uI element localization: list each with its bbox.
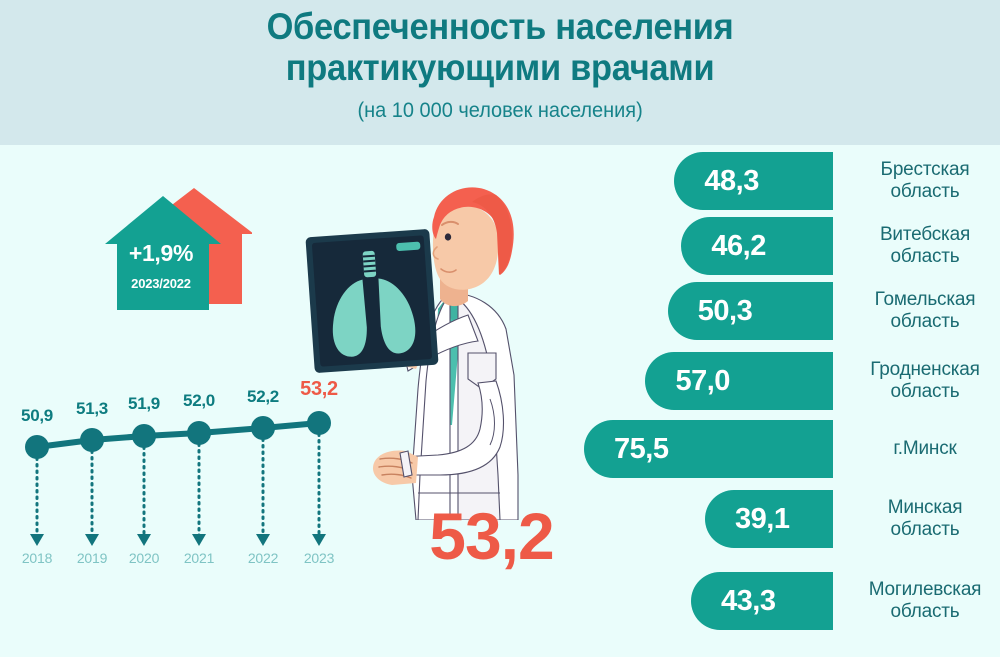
page-subtitle: (на 10 000 человек населения)	[357, 99, 642, 123]
page-title: Обеспеченность населения практикующими в…	[267, 6, 734, 88]
region-bar: 39,1	[705, 490, 833, 548]
region-value: 75,5	[614, 433, 668, 466]
timeline-year-2023: 2023	[289, 550, 349, 566]
region-label: г.Минск	[850, 420, 1000, 478]
region-label-line1: Брестская	[881, 159, 970, 180]
region-value: 50,3	[698, 295, 752, 328]
trend-line	[37, 423, 319, 447]
region-label-line1: г.Минск	[893, 438, 956, 459]
table-row: 50,3 Гомельскаяобласть	[560, 282, 1000, 344]
region-label-line2: область	[891, 181, 960, 202]
region-value: 39,1	[735, 503, 789, 536]
timeline-value-2021: 52,0	[169, 391, 229, 411]
region-label: Могилевскаяобласть	[850, 572, 1000, 630]
region-bar: 75,5	[584, 420, 833, 478]
region-value: 43,3	[721, 585, 775, 618]
page-title-line2: практикующими врачами	[286, 47, 715, 88]
leader-arrowheads	[30, 534, 326, 546]
region-bar: 48,3	[674, 152, 833, 210]
region-label-line1: Гомельская	[875, 289, 976, 310]
table-row: 43,3 Могилевскаяобласть	[560, 572, 1000, 634]
region-label-line2: область	[891, 311, 960, 332]
infographic-page: Обеспеченность населения практикующими в…	[0, 0, 1000, 657]
region-label-line2: область	[891, 381, 960, 402]
leader-lines	[37, 434, 319, 536]
region-label-line1: Витебская	[880, 224, 970, 245]
timeline-value-2018: 50,9	[7, 406, 67, 426]
region-label-line1: Минская	[888, 497, 963, 518]
region-label: Брестскаяобласть	[850, 152, 1000, 210]
growth-badge: +1,9% 2023/2022	[102, 182, 252, 322]
timeline-year-2020: 2020	[114, 550, 174, 566]
region-label: Гомельскаяобласть	[850, 282, 1000, 340]
growth-period: 2023/2022	[102, 276, 220, 291]
timeline-year-2021: 2021	[169, 550, 229, 566]
table-row: 39,1 Минскаяобласть	[560, 490, 1000, 552]
region-label-line1: Гродненская	[870, 359, 979, 380]
region-value: 57,0	[675, 365, 729, 398]
region-value: 48,3	[704, 165, 758, 198]
trend-timeline-chart: 50,9 51,3 51,9 52,0 52,2 53,2 2018 2019 …	[0, 378, 360, 573]
table-row: 57,0 Гродненскаяобласть	[560, 352, 1000, 414]
region-bar: 46,2	[681, 217, 833, 275]
region-label: Гродненскаяобласть	[850, 352, 1000, 410]
region-label: Минскаяобласть	[850, 490, 1000, 548]
region-bar: 57,0	[645, 352, 833, 410]
timeline-value-2019: 51,3	[62, 399, 122, 419]
timeline-year-2018: 2018	[7, 550, 67, 566]
region-label: Витебскаяобласть	[850, 217, 1000, 275]
timeline-value-2022: 52,2	[233, 387, 293, 407]
timeline-value-2023: 53,2	[289, 378, 349, 401]
timeline-year-2019: 2019	[62, 550, 122, 566]
region-bar: 50,3	[668, 282, 833, 340]
table-row: 48,3 Брестскаяобласть	[560, 152, 1000, 214]
timeline-value-2020: 51,9	[114, 394, 174, 414]
region-bar-chart: 48,3 Брестскаяобласть 46,2 Витебскаяобла…	[560, 152, 1000, 657]
header-banner: Обеспеченность населения практикующими в…	[0, 0, 1000, 145]
table-row: 75,5 г.Минск	[560, 420, 1000, 482]
region-label-line2: область	[891, 519, 960, 540]
page-title-line1: Обеспеченность населения	[267, 6, 734, 47]
growth-percent: +1,9%	[102, 240, 220, 267]
timeline-year-2022: 2022	[233, 550, 293, 566]
region-label-line1: Могилевская	[869, 579, 982, 600]
region-value: 46,2	[711, 230, 765, 263]
headline-value: 53,2	[399, 503, 584, 569]
region-bar: 43,3	[691, 572, 833, 630]
region-label-line2: область	[891, 246, 960, 267]
table-row: 46,2 Витебскаяобласть	[560, 217, 1000, 279]
region-label-line2: область	[891, 601, 960, 622]
